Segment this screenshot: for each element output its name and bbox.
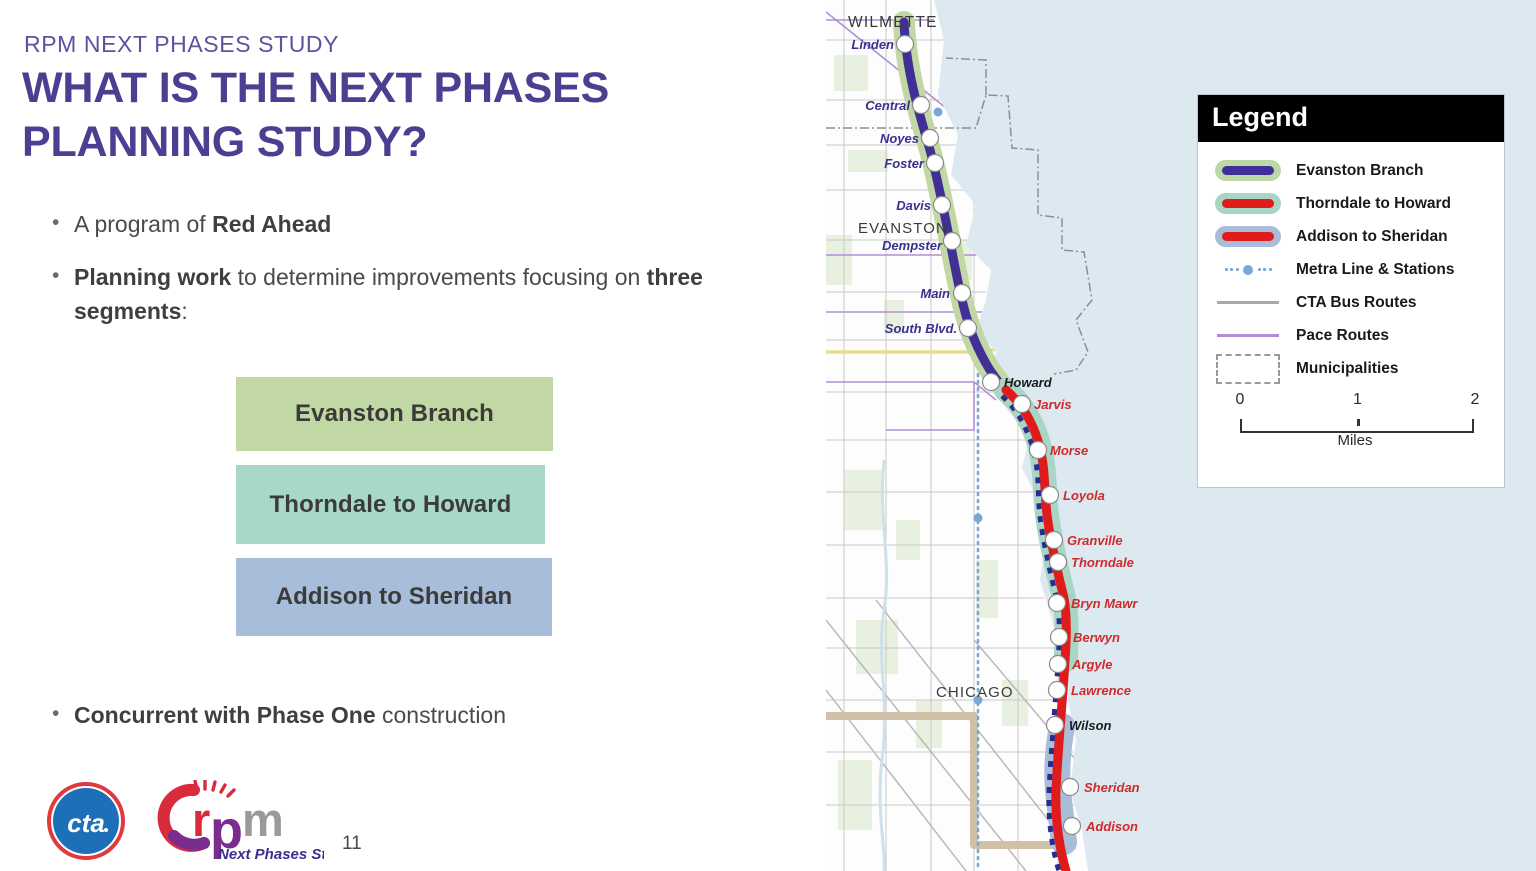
evanston-branch-swatch-icon: [1208, 157, 1288, 185]
legend-title: Legend: [1198, 95, 1504, 142]
cta-logo: cta: [46, 781, 126, 861]
bullet-dot-icon: •: [52, 208, 74, 238]
station-dot-main: [954, 285, 971, 302]
scale-bar-rule: [1240, 419, 1474, 433]
legend-label: Addison to Sheridan: [1296, 228, 1448, 246]
station-label-thorndale: Thorndale: [1071, 555, 1134, 570]
station-dot-bryn-mawr: [1049, 595, 1066, 612]
station-label-howard: Howard: [1004, 375, 1053, 390]
map-legend: Legend Evanston Branch Thorndale to Howa…: [1198, 95, 1504, 487]
label-chicago: CHICAGO: [936, 684, 1014, 701]
legend-label: Metra Line & Stations: [1296, 261, 1454, 279]
bullet-item: • Planning work to determine improvement…: [52, 261, 772, 328]
pace-route-line-icon: [1208, 322, 1288, 350]
logo-row: cta r p m Next P: [46, 779, 362, 863]
station-dot-south-blvd: [960, 320, 977, 337]
station-dot-argyle: [1050, 656, 1067, 673]
page-title: WHAT IS THE NEXT PHASES PLANNING STUDY?: [22, 62, 722, 170]
svg-text:cta: cta: [67, 808, 105, 838]
station-label-addison: Addison: [1085, 819, 1138, 834]
station-dot-loyola: [1042, 487, 1059, 504]
station-dot-davis: [934, 197, 951, 214]
legend-body: Evanston Branch Thorndale to Howard Addi…: [1198, 142, 1504, 487]
station-dot-wilson: [1047, 717, 1064, 734]
station-label-noyes: Noyes: [880, 131, 919, 146]
station-dot-central: [913, 97, 930, 114]
station-dot-linden: [897, 36, 914, 53]
label-wilmette: WILMETTE: [848, 14, 938, 31]
addison-sheridan-swatch-icon: [1208, 223, 1288, 251]
bullet-bold: Red Ahead: [212, 211, 331, 237]
legend-label: Evanston Branch: [1296, 162, 1423, 180]
station-dot-morse: [1030, 442, 1047, 459]
station-dot-berwyn: [1051, 629, 1068, 646]
station-dot-jarvis: [1014, 396, 1031, 413]
bullet-dot-icon: •: [52, 702, 74, 726]
segment-box-evanston-branch[interactable]: Evanston Branch: [236, 377, 553, 451]
map-scale-bar: 0 1 2 Miles: [1208, 385, 1494, 479]
segment-box-list: Evanston Branch Thorndale to Howard Addi…: [236, 377, 553, 650]
station-label-sheridan: Sheridan: [1084, 780, 1140, 795]
station-label-bryn-mawr: Bryn Mawr: [1071, 596, 1138, 611]
legend-row-pace: Pace Routes: [1208, 319, 1494, 352]
station-dot-noyes: [922, 130, 939, 147]
svg-text:r: r: [192, 793, 210, 846]
station-label-granville: Granville: [1067, 533, 1123, 548]
scale-tick-1: 1: [1353, 391, 1362, 409]
scale-tick-0: 0: [1236, 391, 1245, 409]
bullet-text: Planning work to determine improvements …: [74, 261, 772, 328]
closing-bullet-bold: Concurrent with Phase One: [74, 702, 376, 728]
station-dot-thorndale: [1050, 554, 1067, 571]
station-dot-howard: [983, 374, 1000, 391]
page-number: 11: [342, 833, 362, 855]
bullet-bold: Planning work: [74, 264, 231, 290]
segment-label: Thorndale to Howard: [270, 491, 512, 519]
legend-row-cta-bus: CTA Bus Routes: [1208, 286, 1494, 319]
rpm-tagline-text: Next Phases Study: [218, 846, 324, 862]
closing-bullet-item: • Concurrent with Phase One construction: [52, 702, 772, 729]
station-label-morse: Morse: [1050, 443, 1088, 458]
metra-station-dot: [934, 108, 943, 117]
metra-line-icon: [1208, 256, 1288, 284]
thorndale-howard-swatch-icon: [1208, 190, 1288, 218]
label-evanston: EVANSTON: [858, 220, 948, 237]
legend-label: Pace Routes: [1296, 327, 1389, 345]
station-label-jarvis: Jarvis: [1034, 397, 1072, 412]
legend-label: CTA Bus Routes: [1296, 294, 1417, 312]
bullet-plain: A program of: [74, 211, 212, 237]
legend-row-thorndale-to-howard: Thorndale to Howard: [1208, 187, 1494, 220]
station-label-loyola: Loyola: [1063, 488, 1105, 503]
scale-tick-labels: 0 1 2: [1240, 391, 1475, 411]
bullet-plain: to determine improvements focusing on: [231, 264, 646, 290]
slide-content-panel: RPM NEXT PHASES STUDY WHAT IS THE NEXT P…: [0, 0, 826, 871]
slide-eyebrow: RPM NEXT PHASES STUDY: [24, 31, 339, 58]
station-label-berwyn: Berwyn: [1073, 630, 1120, 645]
rpm-logo: r p m Next Phases Study: [134, 780, 324, 862]
legend-row-metra: Metra Line & Stations: [1208, 253, 1494, 286]
station-dot-addison: [1064, 818, 1081, 835]
bullet-item: • A program of Red Ahead: [52, 208, 772, 241]
scale-tick-2: 2: [1471, 391, 1480, 409]
bullet-list: • A program of Red Ahead • Planning work…: [52, 208, 772, 348]
legend-label: Thorndale to Howard: [1296, 195, 1451, 213]
segment-box-addison-to-sheridan[interactable]: Addison to Sheridan: [236, 558, 552, 636]
bullet-text: A program of Red Ahead: [74, 208, 772, 241]
station-label-argyle: Argyle: [1071, 657, 1112, 672]
station-label-central: Central: [865, 98, 910, 113]
svg-text:m: m: [242, 793, 284, 846]
segment-box-thorndale-to-howard[interactable]: Thorndale to Howard: [236, 465, 545, 544]
closing-bullet-text: Concurrent with Phase One construction: [74, 702, 506, 729]
municipality-boundary-icon: [1208, 355, 1288, 383]
map-panel[interactable]: WILMETTE EVANSTON CHICAGO Linden Central…: [826, 0, 1536, 871]
segment-label: Evanston Branch: [295, 400, 494, 428]
scale-unit-label: Miles: [1240, 432, 1470, 449]
legend-row-evanston-branch: Evanston Branch: [1208, 154, 1494, 187]
station-dot-sheridan: [1062, 779, 1079, 796]
scale-bar-mid-tick: [1357, 419, 1360, 426]
station-label-dempster: Dempster: [882, 238, 943, 253]
cta-bus-line-icon: [1208, 289, 1288, 317]
station-label-davis: Davis: [896, 198, 931, 213]
bullet-dot-icon: •: [52, 261, 74, 291]
legend-label: Municipalities: [1296, 360, 1399, 378]
station-dot-granville: [1046, 532, 1063, 549]
legend-row-addison-to-sheridan: Addison to Sheridan: [1208, 220, 1494, 253]
metra-station-dot: [974, 514, 983, 523]
station-dot-foster: [927, 155, 944, 172]
station-dot-lawrence: [1049, 682, 1066, 699]
closing-bullet-plain: construction: [376, 702, 506, 728]
station-label-linden: Linden: [851, 37, 894, 52]
station-label-foster: Foster: [884, 156, 925, 171]
station-label-lawrence: Lawrence: [1071, 683, 1131, 698]
legend-row-municipalities: Municipalities: [1208, 352, 1494, 385]
station-label-wilson: Wilson: [1069, 718, 1112, 733]
segment-label: Addison to Sheridan: [276, 583, 513, 611]
bullet-plain: :: [181, 298, 187, 324]
station-label-south-blvd: South Blvd.: [885, 321, 957, 336]
station-label-main: Main: [920, 286, 950, 301]
